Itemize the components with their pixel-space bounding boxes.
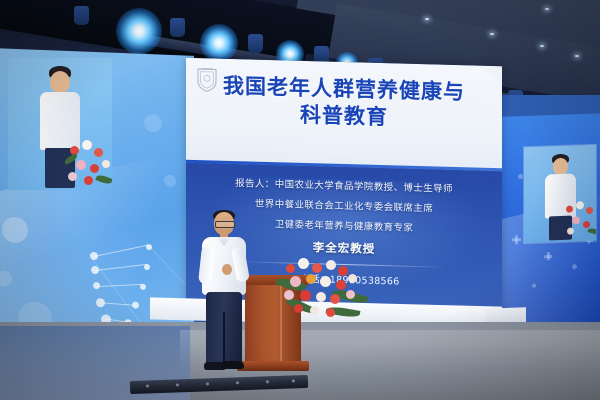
stage-light-beam — [200, 24, 238, 62]
stage-light-fixture — [170, 18, 185, 37]
recessed-ceiling-lights — [425, 18, 429, 20]
conference-stage-photo: 我国老年人群营养健康与 科普教育 报告人：中国农业大学食品学院教授、博士生导师 … — [0, 0, 600, 400]
head — [553, 158, 568, 176]
flower — [326, 260, 336, 270]
recessed-ceiling-lights — [490, 33, 494, 35]
flower — [336, 280, 346, 290]
flower — [76, 160, 86, 170]
flower — [567, 228, 574, 235]
flower — [566, 206, 573, 213]
slide-title: 我国老年人群营养健康与 科普教育 — [186, 72, 502, 135]
bokeh-dot — [144, 114, 162, 133]
flower — [583, 221, 590, 228]
bokeh-dot — [2, 216, 28, 243]
leaf — [95, 173, 112, 185]
flower — [346, 290, 355, 299]
bokeh-dot — [518, 174, 523, 179]
flower — [300, 290, 311, 301]
flower — [84, 176, 93, 185]
flower — [572, 216, 580, 224]
flower — [310, 306, 319, 315]
head — [50, 71, 70, 93]
dna-node — [132, 301, 139, 308]
flower — [586, 207, 593, 214]
flower — [312, 263, 322, 273]
stage-light-beam — [116, 8, 162, 54]
dna-node — [140, 284, 146, 290]
flower — [316, 292, 326, 302]
flower — [68, 172, 77, 181]
right-shoe — [222, 361, 244, 369]
flower — [320, 276, 331, 287]
eyeglasses-icon — [215, 221, 235, 228]
flower — [290, 276, 301, 287]
stage-light-fixture — [74, 6, 89, 25]
recessed-ceiling-lights — [545, 8, 549, 10]
flower — [348, 274, 357, 283]
leaf — [588, 227, 596, 235]
flower-arrangement-small — [564, 199, 596, 240]
flower — [94, 148, 103, 157]
flower — [82, 140, 92, 150]
flower-arrangement — [282, 258, 368, 324]
recessed-ceiling-lights — [540, 45, 544, 47]
medical-cross-icon — [515, 235, 518, 244]
left-screen-speaker-feed — [8, 58, 112, 190]
flower — [102, 160, 110, 168]
flower — [330, 294, 340, 304]
flower — [576, 201, 584, 209]
leg-separation — [223, 312, 225, 364]
speaker-figure — [196, 212, 252, 372]
medical-cross-icon — [547, 252, 550, 260]
flower — [294, 304, 303, 313]
flower-arrangement-small — [66, 136, 112, 188]
flower — [286, 264, 295, 273]
flower — [326, 308, 335, 317]
flower — [306, 274, 316, 284]
flower — [284, 290, 294, 300]
recessed-ceiling-lights — [575, 55, 579, 57]
right-screen-speaker-feed — [524, 145, 596, 244]
hand — [222, 264, 232, 275]
bokeh-dot — [164, 175, 176, 187]
dna-node — [144, 264, 150, 270]
stage-light-fixture — [248, 34, 263, 53]
flower — [298, 258, 309, 269]
flower — [338, 266, 348, 276]
flower — [90, 164, 99, 173]
